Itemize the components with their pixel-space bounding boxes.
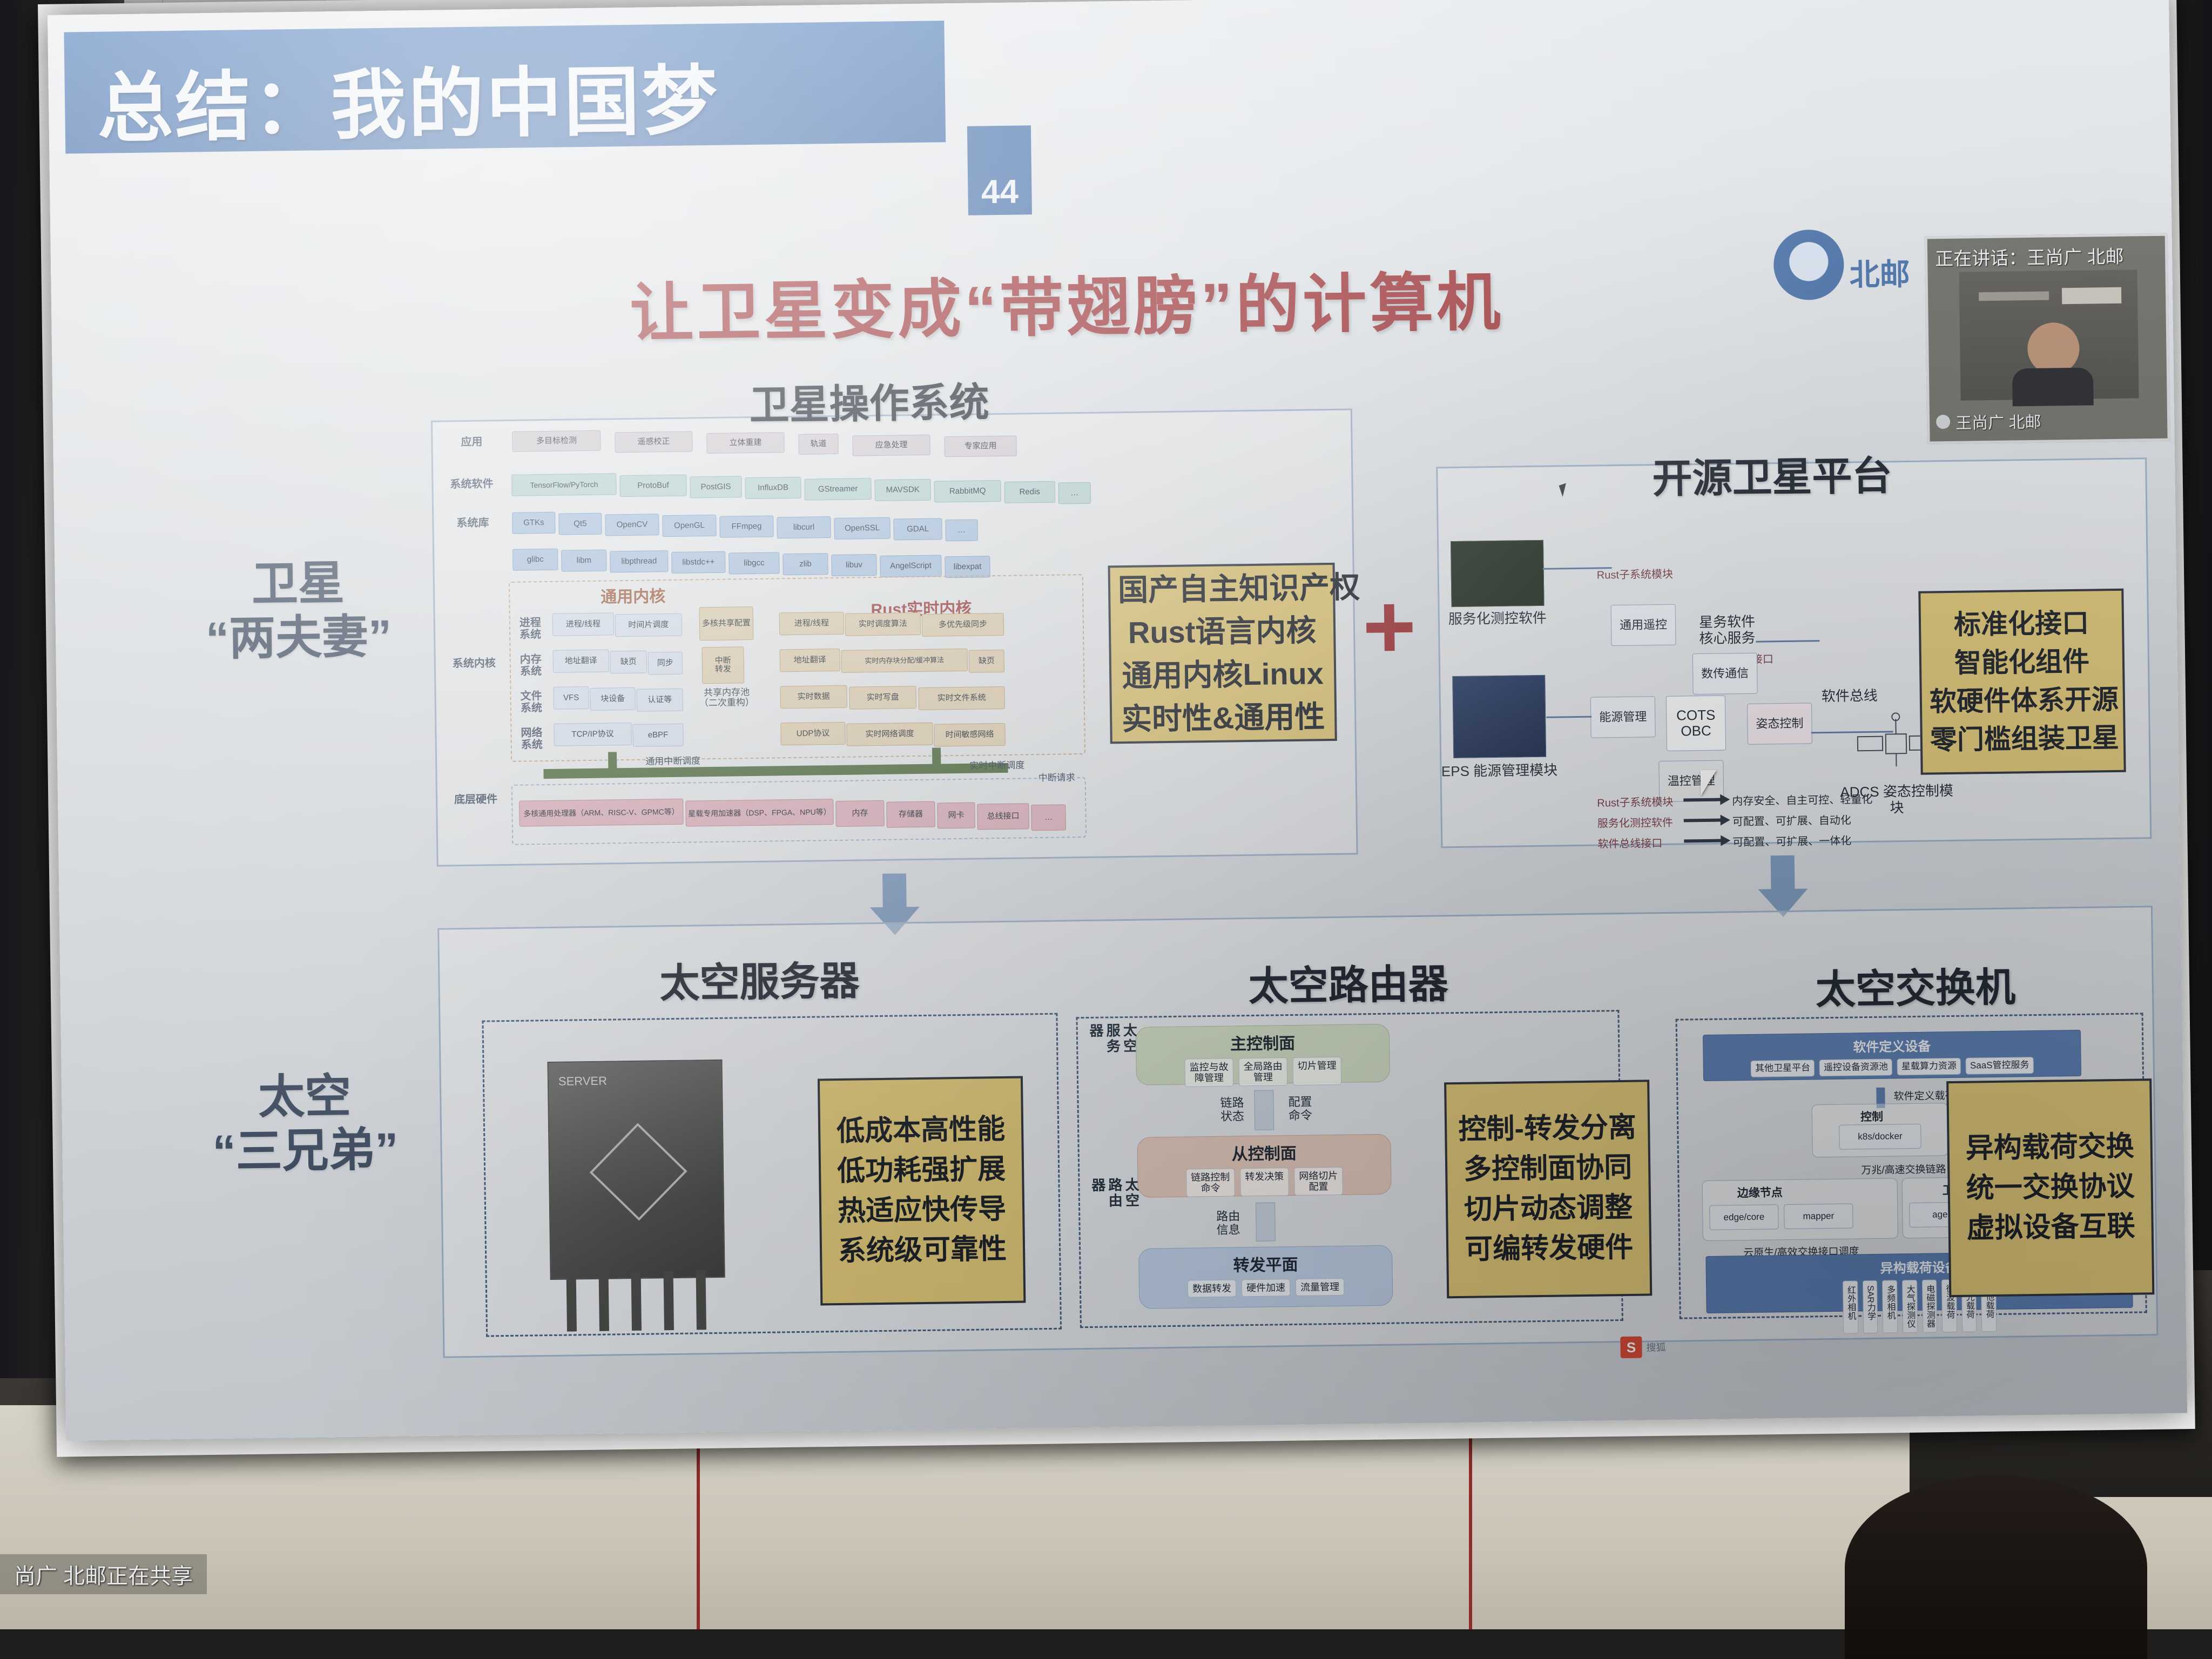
callout-open-platform: 标准化接口 智能化组件 软硬件体系开源 零门槛组装卫星 <box>1918 589 2126 775</box>
os-kernel-rt-2-0: 实时数据 <box>780 685 847 709</box>
switch-payload-4: 电磁探测器 <box>1921 1279 1937 1332</box>
side-label-satellite: 卫星 “两夫妻” <box>146 555 450 667</box>
switch-band-sdn-title: 软件定义设备 <box>1853 1036 1931 1056</box>
callout-open-platform-line-0: 标准化接口 <box>1928 604 2115 644</box>
os-kernel-rt-2-1: 实时写盘 <box>849 686 916 710</box>
os-kernel-gen-1-2: 同步 <box>648 652 683 675</box>
video-bg-shelf-2 <box>2062 287 2121 304</box>
os-hw-3: 存储器 <box>886 801 935 828</box>
platform-legend-arrow-2 <box>1684 839 1722 843</box>
router-cell-slice-config: 网络切片 配置 <box>1294 1167 1343 1196</box>
speaker-name-tag: 王尚广 北邮 <box>1936 409 2041 434</box>
os-mid-8: … <box>1058 482 1091 504</box>
platform-eps-image <box>1452 675 1546 758</box>
panel-open-platform-title: 开源卫星平台 <box>1652 443 1892 504</box>
os-kernel-rt-3-0: UDP协议 <box>780 722 846 746</box>
platform-node-attitude: 姿态控制 <box>1747 703 1812 745</box>
switch-band-sdn-devices: 软件定义设备 其他卫星平台 遥控设备资源池 星载算力资源 SaaS管控服务 <box>1703 1030 2081 1081</box>
router-band-master-control: 主控制面 监控与故 障管理 全局路由 管理 切片管理 <box>1136 1024 1390 1085</box>
os-lib-a-7: GDAL <box>893 518 942 540</box>
os-hw-0: 多核通用处理器（ARM、RISC-V、GPMC等） <box>519 799 684 827</box>
os-mid-0: TensorFlow/PyTorch <box>511 473 617 496</box>
university-name: 北邮 <box>1849 250 1910 294</box>
router-flow-label-link-state: 链路 状态 <box>1208 1096 1257 1124</box>
platform-legend-val-1: 可配置、可扩展、自动化 <box>1732 811 1851 828</box>
switch-cell-remote-pool: 遥控设备资源池 <box>1819 1058 1892 1076</box>
projection-screen: 总结：我的中国梦 44 让卫星变成“带翅膀”的计算机 北邮 正在讲话：王尚广 北… <box>48 0 2187 1441</box>
server-heat-fin-5 <box>696 1270 706 1330</box>
speaker-video-overlay[interactable]: 正在讲话：王尚广 北邮 王尚广 北邮 <box>1925 233 2170 444</box>
platform-legend-key-1: 服务化测控软件 <box>1597 814 1673 831</box>
platform-legend-key-0: Rust子系统模块 <box>1597 793 1673 810</box>
os-hw-4: 网卡 <box>937 802 975 829</box>
os-mid-4: GStreamer <box>804 478 872 501</box>
os-layer-label-libs: 系统库 <box>448 517 497 529</box>
router-cell-link-cmd: 链路控制 命令 <box>1186 1168 1235 1197</box>
router-cell-traffic-mgmt: 流量管理 <box>1296 1278 1344 1296</box>
os-kernel-rt-0-0: 进程/线程 <box>779 612 845 636</box>
down-arrow-left-stem <box>882 873 907 909</box>
page-title: 总结：我的中国梦 <box>97 37 941 157</box>
os-kernel-gen-0-0: 进程/线程 <box>552 612 615 636</box>
os-mid-1: ProtoBuf <box>619 475 687 497</box>
router-band-forward-title: 转发平面 <box>1233 1251 1298 1276</box>
watermark-badge: S <box>1620 1337 1642 1359</box>
os-app-2: 立体重建 <box>706 432 784 454</box>
os-lib-b-4: libgcc <box>729 552 780 574</box>
panel-space-router-title: 太空路由器 <box>1248 952 1448 1012</box>
callout-space-server-line-2: 热适应快传导 <box>829 1190 1015 1232</box>
platform-core-service-label: 星务软件 核心服务 <box>1692 614 1763 647</box>
router-flow-label-config-cmd: 配置 命令 <box>1276 1095 1325 1123</box>
callout-space-server: 低成本高性能 低功耗强扩展 热适应快传导 系统级可靠性 <box>818 1076 1026 1306</box>
server-heat-fin-2 <box>599 1272 609 1331</box>
callout-space-router-line-1: 多控制面协同 <box>1455 1148 1641 1190</box>
router-band-forward-cells: 数据转发 硬件加速 流量管理 <box>1188 1278 1344 1298</box>
side-label-space: 太空 “三兄弟” <box>153 1068 457 1180</box>
screen-share-status-bar: 尚广 北邮正在共享 <box>0 1554 207 1594</box>
os-kernel-general-title: 通用内核 <box>601 583 666 608</box>
callout-space-server-line-0: 低成本高性能 <box>828 1110 1014 1152</box>
callout-satellite-os: 国产自主知识产权 Rust语言内核 通用内核Linux 实时性&通用性 <box>1108 563 1337 744</box>
callout-open-platform-line-2: 软硬件体系开源 <box>1929 680 2115 721</box>
callout-space-switch-line-1: 统一交换协议 <box>1957 1166 2143 1209</box>
microphone-icon <box>1936 415 1950 429</box>
os-kernel-rt-3-1: 实时网络调度 <box>846 723 933 746</box>
os-lib-a-0: GTKs <box>512 512 556 534</box>
panel-space-switch-title: 太空交换机 <box>1815 955 2015 1015</box>
panel-satellite-os-title: 卫星操作系统 <box>749 370 989 431</box>
side-label-space-line2: “三兄弟” <box>154 1122 457 1180</box>
server-heat-fin-4 <box>664 1271 674 1330</box>
os-kernel-rt-2-2: 实时文件系统 <box>918 686 1005 710</box>
router-band-slave-cells: 链路控制 命令 转发决策 网络切片 配置 <box>1186 1167 1343 1197</box>
switch-band-sdn-cells: 其他卫星平台 遥控设备资源池 星载算力资源 SaaS管控服务 <box>1751 1057 2034 1077</box>
switch-cell-other-platform: 其他卫星平台 <box>1751 1060 1815 1077</box>
switch-payload-2: 多频相机 <box>1882 1280 1898 1333</box>
os-lib-b-6: libuv <box>831 554 877 576</box>
router-band-forward-plane: 转发平面 数据转发 硬件加速 流量管理 <box>1138 1245 1393 1309</box>
panel-space-server-title: 太空服务器 <box>659 948 860 1009</box>
os-hw-2: 内存 <box>835 800 885 827</box>
platform-service-software-caption: 服务化测控软件 <box>1444 610 1552 628</box>
router-label-space-router: 太空 路由 器 <box>1089 1177 1141 1286</box>
switch-payload-1: SAR力学 <box>1863 1280 1878 1333</box>
switch-control-label: 控制 <box>1860 1108 1883 1125</box>
platform-service-software-image <box>1451 540 1545 607</box>
os-interrupt-up-2 <box>932 747 941 766</box>
slide-number: 44 <box>968 172 1032 212</box>
router-arrow-up-2 <box>1256 1202 1276 1241</box>
callout-satellite-os-line-3: 实时性&通用性 <box>1120 695 1327 741</box>
os-kernel-gen-3-0: TCP/IP协议 <box>554 723 632 746</box>
os-lib-a-8: … <box>945 520 978 542</box>
plus-symbol: + <box>1362 581 1417 673</box>
os-lib-a-1: Qt5 <box>558 513 602 535</box>
platform-node-telemetry: 通用遥控 <box>1611 604 1676 646</box>
os-interrupt-up-1 <box>608 752 617 770</box>
callout-space-router-line-3: 可编转发硬件 <box>1456 1228 1642 1270</box>
server-logo-text: SERVER <box>558 1074 607 1089</box>
os-kernel-bridge-0: 多核共享配置 <box>699 606 753 640</box>
callout-satellite-os-line-2: 通用内核Linux <box>1119 652 1327 698</box>
presentation-slide: 总结：我的中国梦 44 让卫星变成“带翅膀”的计算机 北邮 正在讲话：王尚广 北… <box>48 0 2187 1441</box>
side-label-satellite-line2: “两夫妻” <box>147 609 450 667</box>
space-server-photo: SERVER <box>547 1060 725 1280</box>
router-cell-monitor: 监控与故 障管理 <box>1184 1058 1233 1087</box>
os-kernel-row-label-0: 进程 系统 <box>514 617 548 641</box>
os-mid-7: Redis <box>1004 481 1055 503</box>
router-cell-slice-mgmt: 切片管理 <box>1292 1057 1341 1085</box>
callout-space-server-line-1: 低功耗强扩展 <box>828 1150 1015 1192</box>
router-label-space-server: 太空 服务 器 <box>1087 1023 1139 1126</box>
audience-head-silhouette <box>1845 1475 2147 1659</box>
os-lib-b-1: libm <box>561 550 607 572</box>
os-kernel-row-label-3: 网络 系统 <box>515 727 549 751</box>
os-kernel-rt-1-1: 实时内存块分配/缓冲算法 <box>841 649 968 673</box>
callout-open-platform-line-1: 智能化组件 <box>1929 642 2115 683</box>
os-hw-6: … <box>1031 804 1066 831</box>
platform-legend-val-2: 可配置、可扩展、一体化 <box>1732 832 1851 849</box>
router-cell-data-forward: 数据转发 <box>1188 1279 1236 1297</box>
router-arrow-up-1 <box>1254 1090 1274 1130</box>
university-logo-icon <box>1773 230 1844 301</box>
switch-link-label-1: 万兆/高速交换链路 <box>1861 1161 1946 1177</box>
os-lib-a-4: FFmpeg <box>719 515 774 537</box>
watermark-text: 搜狐 <box>1646 1340 1665 1354</box>
os-kernel-row-label-1: 内存 系统 <box>514 653 548 678</box>
router-band-master-title: 主控制面 <box>1230 1030 1296 1055</box>
os-kernel-rt-1-2: 缺页 <box>969 650 1005 673</box>
callout-space-router-line-0: 控制-转发分离 <box>1454 1108 1641 1150</box>
platform-node-power: 能源管理 <box>1590 696 1656 738</box>
platform-legend-key-2: 软件总线接口 <box>1597 834 1662 851</box>
os-layer-label-kernel: 系统内核 <box>446 657 502 670</box>
platform-legend-arrow-1 <box>1684 819 1722 822</box>
os-kernel-gen-1-1: 缺页 <box>610 651 648 674</box>
platform-eps-caption: EPS 能源管理模块 <box>1440 762 1559 780</box>
os-layer-label-middleware: 系统软件 <box>443 478 500 490</box>
os-lib-a-3: OpenGL <box>662 515 717 537</box>
os-app-4: 应急处理 <box>852 435 930 456</box>
server-heat-fin-3 <box>631 1271 642 1331</box>
server-heat-fin-1 <box>567 1272 577 1331</box>
router-cell-forward-decision: 转发决策 <box>1240 1168 1289 1196</box>
callout-space-switch-line-2: 虚拟设备互联 <box>1958 1206 2144 1249</box>
os-arrow-label-general: 通用中断调度 <box>630 756 716 767</box>
side-label-space-line1: 太空 <box>153 1068 456 1126</box>
os-app-3: 轨道 <box>798 434 838 455</box>
speaking-now-label: 正在讲话：王尚广 北邮 <box>1935 242 2124 271</box>
os-app-5: 专家应用 <box>944 436 1016 457</box>
os-arrow-label-rt: 实时中断调度 <box>954 760 1040 772</box>
callout-space-server-line-3: 系统级可靠性 <box>829 1230 1016 1272</box>
switch-band-payload-title: 异构载荷设备 <box>1880 1257 1958 1277</box>
callout-open-platform-line-3: 零门槛组装卫星 <box>1930 719 2116 759</box>
os-lib-b-5: zlib <box>783 553 828 575</box>
router-band-slave-control: 从控制面 链路控制 命令 转发决策 网络切片 配置 <box>1137 1134 1391 1198</box>
switch-cell-compute-resource: 星载算力资源 <box>1897 1058 1961 1075</box>
speaker-name-text: 王尚广 北邮 <box>1955 409 2041 434</box>
os-lib-a-5: libcurl <box>777 516 831 538</box>
os-kernel-shared-mem-label: 共享内存池 （二次重构） <box>691 687 761 709</box>
os-app-0: 多目标检测 <box>512 430 601 452</box>
side-label-satellite-line1: 卫星 <box>146 555 449 613</box>
wall-seam-2 <box>1469 1405 1472 1659</box>
switch-payload-3: 大气探测仪 <box>1902 1280 1918 1333</box>
os-mid-5: MAVSDK <box>874 479 931 501</box>
router-band-master-cells: 监控与故 障管理 全局路由 管理 切片管理 <box>1184 1057 1341 1087</box>
os-kernel-rt-0-1: 实时调度算法 <box>845 612 921 636</box>
os-mid-2: PostGIS <box>690 476 742 498</box>
callout-space-switch-line-0: 异构载荷交换 <box>1957 1127 2143 1169</box>
switch-node-k8s-docker: k8s/docker <box>1839 1124 1921 1150</box>
os-hw-1: 星载专用加速器（DSP、FPGA、NPU等） <box>685 799 834 827</box>
os-mid-6: RabbitMQ <box>934 480 1001 503</box>
os-kernel-rt-1-0: 地址翻译 <box>779 649 840 672</box>
video-feed <box>1959 269 2139 400</box>
speaker-face <box>2027 322 2080 375</box>
os-layer-label-app: 应用 <box>447 436 496 448</box>
callout-satellite-os-line-1: Rust语言内核 <box>1118 609 1326 655</box>
os-hw-5: 总线接口 <box>977 803 1029 829</box>
router-band-slave-title: 从控制面 <box>1231 1140 1297 1165</box>
os-lib-b-0: glibc <box>512 549 558 571</box>
switch-node-mapper: mapper <box>1784 1203 1853 1229</box>
os-lib-b-3: libstdc++ <box>671 551 726 574</box>
switch-cell-saas-service: SaaS管控服务 <box>1966 1057 2034 1074</box>
platform-software-bus-caption: 软件总线 <box>1801 687 1898 705</box>
os-app-1: 遥感校正 <box>615 431 692 453</box>
switch-payload-0: 红外相机 <box>1843 1280 1858 1333</box>
down-arrow-right-stem <box>1771 855 1795 892</box>
os-kernel-bridge-1: 中断 转发 <box>702 646 744 684</box>
os-kernel-gen-3-1: eBPF <box>632 724 684 747</box>
switch-edge-node-label: 边缘节点 <box>1737 1184 1783 1201</box>
os-lib-b-2: libpthread <box>610 550 669 572</box>
os-layer-label-hardware: 底层硬件 <box>448 793 504 806</box>
os-kernel-rt-3-2: 时间敏感网络 <box>934 723 1006 747</box>
platform-legend-val-0: 内存安全、自主可控、轻量化 <box>1732 791 1872 808</box>
router-cell-global-route: 全局路由 管理 <box>1238 1057 1287 1086</box>
mouse-cursor-large <box>1701 770 1717 796</box>
os-lib-a-2: OpenCV <box>605 514 659 536</box>
os-mid-3: InfluxDB <box>745 477 801 499</box>
video-bg-shelf <box>1979 292 2049 301</box>
speaker-torso <box>2012 367 2094 406</box>
os-kernel-gen-2-1: 块设备 <box>590 687 636 711</box>
os-kernel-gen-0-1: 时间片调度 <box>615 613 683 637</box>
os-kernel-gen-2-2: 认证等 <box>636 689 683 712</box>
os-kernel-rt-0-2: 多优先级同步 <box>922 613 1004 637</box>
callout-space-router-line-2: 切片动态调整 <box>1455 1188 1642 1230</box>
platform-legend-arrow-0 <box>1683 798 1721 802</box>
os-kernel-gen-2-0: VFS <box>553 686 589 710</box>
router-cell-hw-accel: 硬件加速 <box>1242 1279 1290 1297</box>
os-lib-a-6: OpenSSL <box>834 517 891 539</box>
os-kernel-row-label-2: 文件 系统 <box>514 690 548 714</box>
slide-headline: 让卫星变成“带翅膀”的计算机 <box>353 246 1780 358</box>
os-kernel-gen-1-0: 地址翻译 <box>552 649 609 672</box>
platform-center-cots-obc: COTS OBC <box>1666 695 1726 751</box>
switch-node-edge-core: edge/core <box>1709 1204 1779 1230</box>
callout-space-router: 控制-转发分离 多控制面协同 切片动态调整 可编转发硬件 <box>1444 1080 1652 1298</box>
server-diamond-marking <box>590 1123 687 1220</box>
callout-space-switch: 异构载荷交换 统一交换协议 虚拟设备互联 <box>1946 1078 2154 1297</box>
os-lib-b-8: libexpat <box>945 556 990 578</box>
platform-node-datacomm: 数传通信 <box>1692 653 1758 695</box>
os-lib-b-7: AngelScript <box>880 555 942 577</box>
callout-satellite-os-line-0: 国产自主知识产权 <box>1118 566 1326 612</box>
router-flow-label-route-info: 路由 信息 <box>1204 1209 1253 1237</box>
